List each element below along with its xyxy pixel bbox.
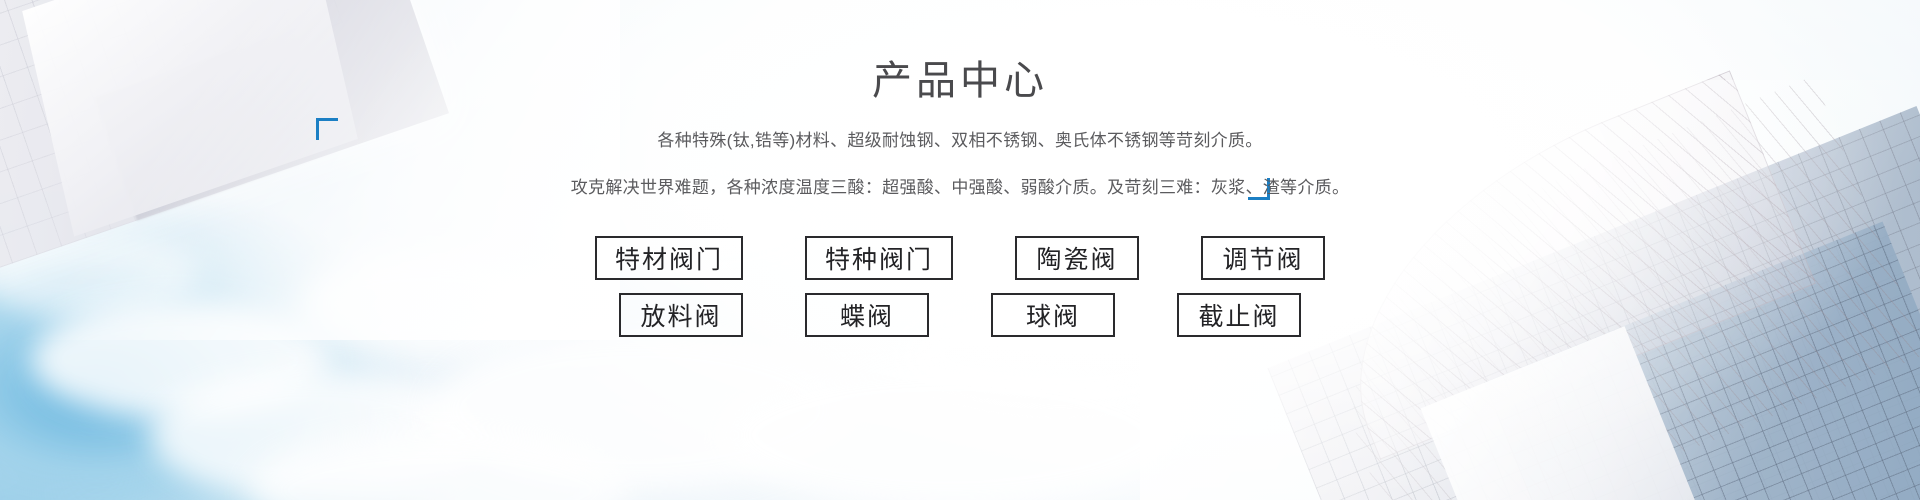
category-row-1: 特材阀门 特种阀门 陶瓷阀 调节阀 bbox=[0, 236, 1920, 280]
category-button-ceramic-valve[interactable]: 陶瓷阀 bbox=[1015, 236, 1139, 280]
banner-content: 产品中心 各种特殊(钛,锆等)材料、超级耐蚀钢、双相不锈钢、奥氏体不锈钢等苛刻介… bbox=[0, 0, 1920, 500]
category-button-discharge-valve[interactable]: 放料阀 bbox=[619, 293, 743, 337]
category-row-2: 放料阀 蝶阀 球阀 截止阀 bbox=[0, 293, 1920, 337]
product-center-banner: 产品中心 各种特殊(钛,锆等)材料、超级耐蚀钢、双相不锈钢、奥氏体不锈钢等苛刻介… bbox=[0, 0, 1920, 500]
category-button-ball-valve[interactable]: 球阀 bbox=[991, 293, 1115, 337]
category-button-grid: 特材阀门 特种阀门 陶瓷阀 调节阀 放料阀 蝶阀 球阀 截止阀 bbox=[0, 236, 1920, 337]
category-button-control-valve[interactable]: 调节阀 bbox=[1201, 236, 1325, 280]
category-button-special-material-valve[interactable]: 特材阀门 bbox=[595, 236, 743, 280]
category-button-globe-valve[interactable]: 截止阀 bbox=[1177, 293, 1301, 337]
page-title: 产品中心 bbox=[0, 48, 1920, 106]
category-button-butterfly-valve[interactable]: 蝶阀 bbox=[805, 293, 929, 337]
category-button-special-type-valve[interactable]: 特种阀门 bbox=[805, 236, 953, 280]
description-line-2: 攻克解决世界难题，各种浓度温度三酸：超强酸、中强酸、弱酸介质。及苛刻三难：灰浆、… bbox=[0, 173, 1920, 198]
description-line-1: 各种特殊(钛,锆等)材料、超级耐蚀钢、双相不锈钢、奥氏体不锈钢等苛刻介质。 bbox=[0, 126, 1920, 151]
